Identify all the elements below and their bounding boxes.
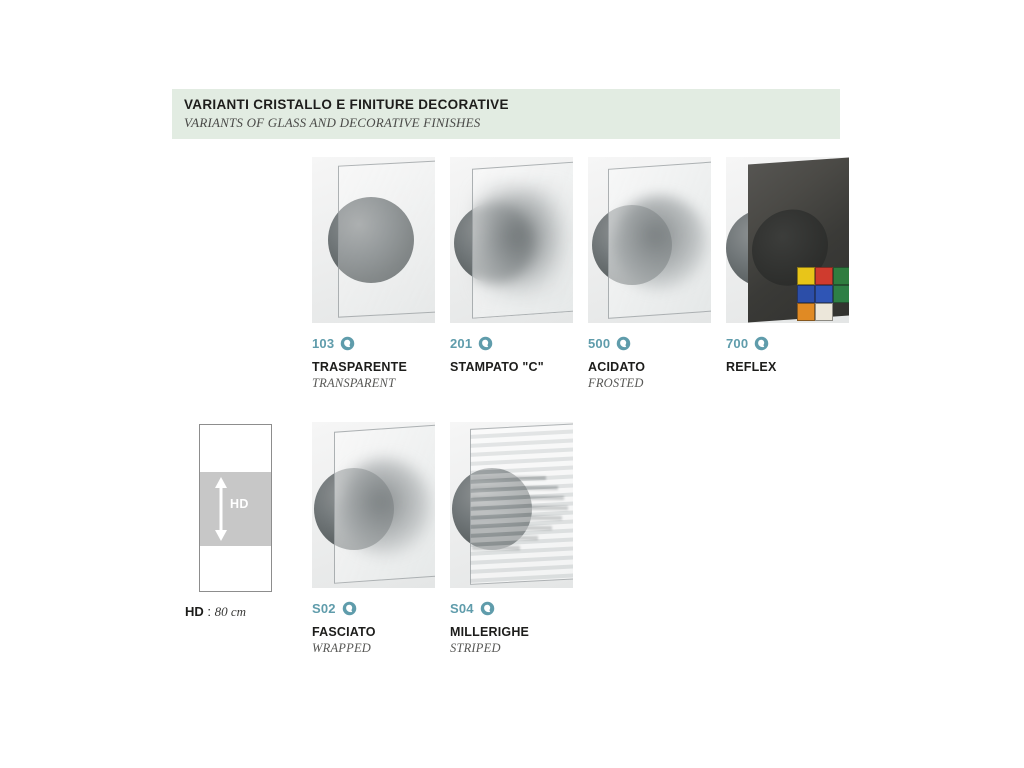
glass-sample-icon	[754, 336, 769, 351]
color-swatch	[833, 267, 849, 285]
glass-pane	[338, 160, 435, 317]
hd-double-arrow-icon	[214, 477, 228, 541]
color-swatch	[797, 303, 815, 321]
variant-code-line: S04	[450, 600, 588, 617]
variant-code-line: 700	[726, 335, 864, 352]
color-checker-row	[797, 267, 849, 285]
variant-card-500[interactable]: 500 ACIDATO FROSTED	[588, 157, 726, 391]
variant-name-it: ACIDATO	[588, 360, 726, 374]
variant-code: 500	[588, 336, 610, 351]
variant-caption: S02 FASCIATO WRAPPED	[312, 600, 450, 656]
glass-sample-icon	[480, 601, 495, 616]
variant-code-line: 201	[450, 335, 588, 352]
color-swatch	[797, 267, 815, 285]
hd-caption-label: HD	[185, 604, 204, 619]
variant-name-en: WRAPPED	[312, 641, 450, 656]
variant-name-en: FROSTED	[588, 376, 726, 391]
variant-thumbnail-millerighe	[450, 422, 573, 588]
variant-card-201[interactable]: 201 STAMPATO "C"	[450, 157, 588, 391]
color-checker-row	[797, 303, 849, 321]
hd-panel-outline: HD	[199, 424, 272, 592]
variant-name-it: TRASPARENTE	[312, 360, 450, 374]
color-swatch	[797, 285, 815, 303]
variant-card-s04[interactable]: S04 MILLERIGHE STRIPED	[450, 422, 588, 656]
variant-card-s02[interactable]: S02 FASCIATO WRAPPED	[312, 422, 450, 656]
variant-card-700[interactable]: 700 REFLEX	[726, 157, 864, 391]
variant-code: 201	[450, 336, 472, 351]
hd-caption-value: 80 cm	[215, 604, 246, 619]
glass-sample-icon	[342, 601, 357, 616]
variant-caption: 700 REFLEX	[726, 335, 864, 374]
variant-code: S02	[312, 601, 336, 616]
variant-code-line: 500	[588, 335, 726, 352]
variant-caption: 201 STAMPATO "C"	[450, 335, 588, 374]
variant-code-line: S02	[312, 600, 450, 617]
glass-variants-row-1: 103 TRASPARENTE TRANSPARENT	[312, 157, 864, 391]
page-subtitle: VARIANTS OF GLASS AND DECORATIVE FINISHE…	[184, 114, 840, 131]
variant-code-line: 103	[312, 335, 450, 352]
variant-name-it: REFLEX	[726, 360, 864, 374]
hd-arrow-label: HD	[230, 497, 249, 511]
glass-pane	[470, 423, 573, 585]
variant-card-103[interactable]: 103 TRASPARENTE TRANSPARENT	[312, 157, 450, 391]
variant-thumbnail-acidato	[588, 157, 711, 323]
refracted-sphere-blur	[476, 187, 568, 297]
hd-caption: HD : 80 cm	[185, 604, 295, 620]
variant-name-it: STAMPATO "C"	[450, 360, 588, 374]
color-checker-row	[797, 285, 849, 303]
variant-name-en: STRIPED	[450, 641, 588, 656]
variant-code: 103	[312, 336, 334, 351]
glass-sample-icon	[478, 336, 493, 351]
variant-name-it: FASCIATO	[312, 625, 450, 639]
hd-caption-separator: :	[204, 604, 215, 619]
variant-thumbnail-fasciato	[312, 422, 435, 588]
refracted-sphere-blur	[612, 195, 708, 291]
color-swatch	[833, 285, 849, 303]
variant-name-it: MILLERIGHE	[450, 625, 588, 639]
color-swatch	[815, 267, 833, 285]
hd-dimension-diagram: HD HD : 80 cm	[199, 424, 279, 592]
color-checker-chart	[797, 267, 849, 321]
catalog-page: VARIANTI CRISTALLO E FINITURE DECORATIVE…	[0, 0, 1024, 768]
refracted-sphere-blur	[338, 458, 432, 556]
variant-caption: 103 TRASPARENTE TRANSPARENT	[312, 335, 450, 391]
page-title: VARIANTI CRISTALLO E FINITURE DECORATIVE	[184, 96, 840, 113]
variant-code: 700	[726, 336, 748, 351]
variant-code: S04	[450, 601, 474, 616]
variant-thumbnail-reflex	[726, 157, 849, 323]
color-swatch	[815, 303, 833, 321]
section-header-band: VARIANTI CRISTALLO E FINITURE DECORATIVE…	[172, 89, 840, 139]
variant-caption: S04 MILLERIGHE STRIPED	[450, 600, 588, 656]
glass-variants-row-2: S02 FASCIATO WRAPPED	[312, 422, 588, 656]
variant-thumbnail-transparent	[312, 157, 435, 323]
glass-sample-icon	[616, 336, 631, 351]
glass-sample-icon	[340, 336, 355, 351]
variant-name-en: TRANSPARENT	[312, 376, 450, 391]
color-swatch	[815, 285, 833, 303]
variant-thumbnail-stampato-c	[450, 157, 573, 323]
variant-caption: 500 ACIDATO FROSTED	[588, 335, 726, 391]
